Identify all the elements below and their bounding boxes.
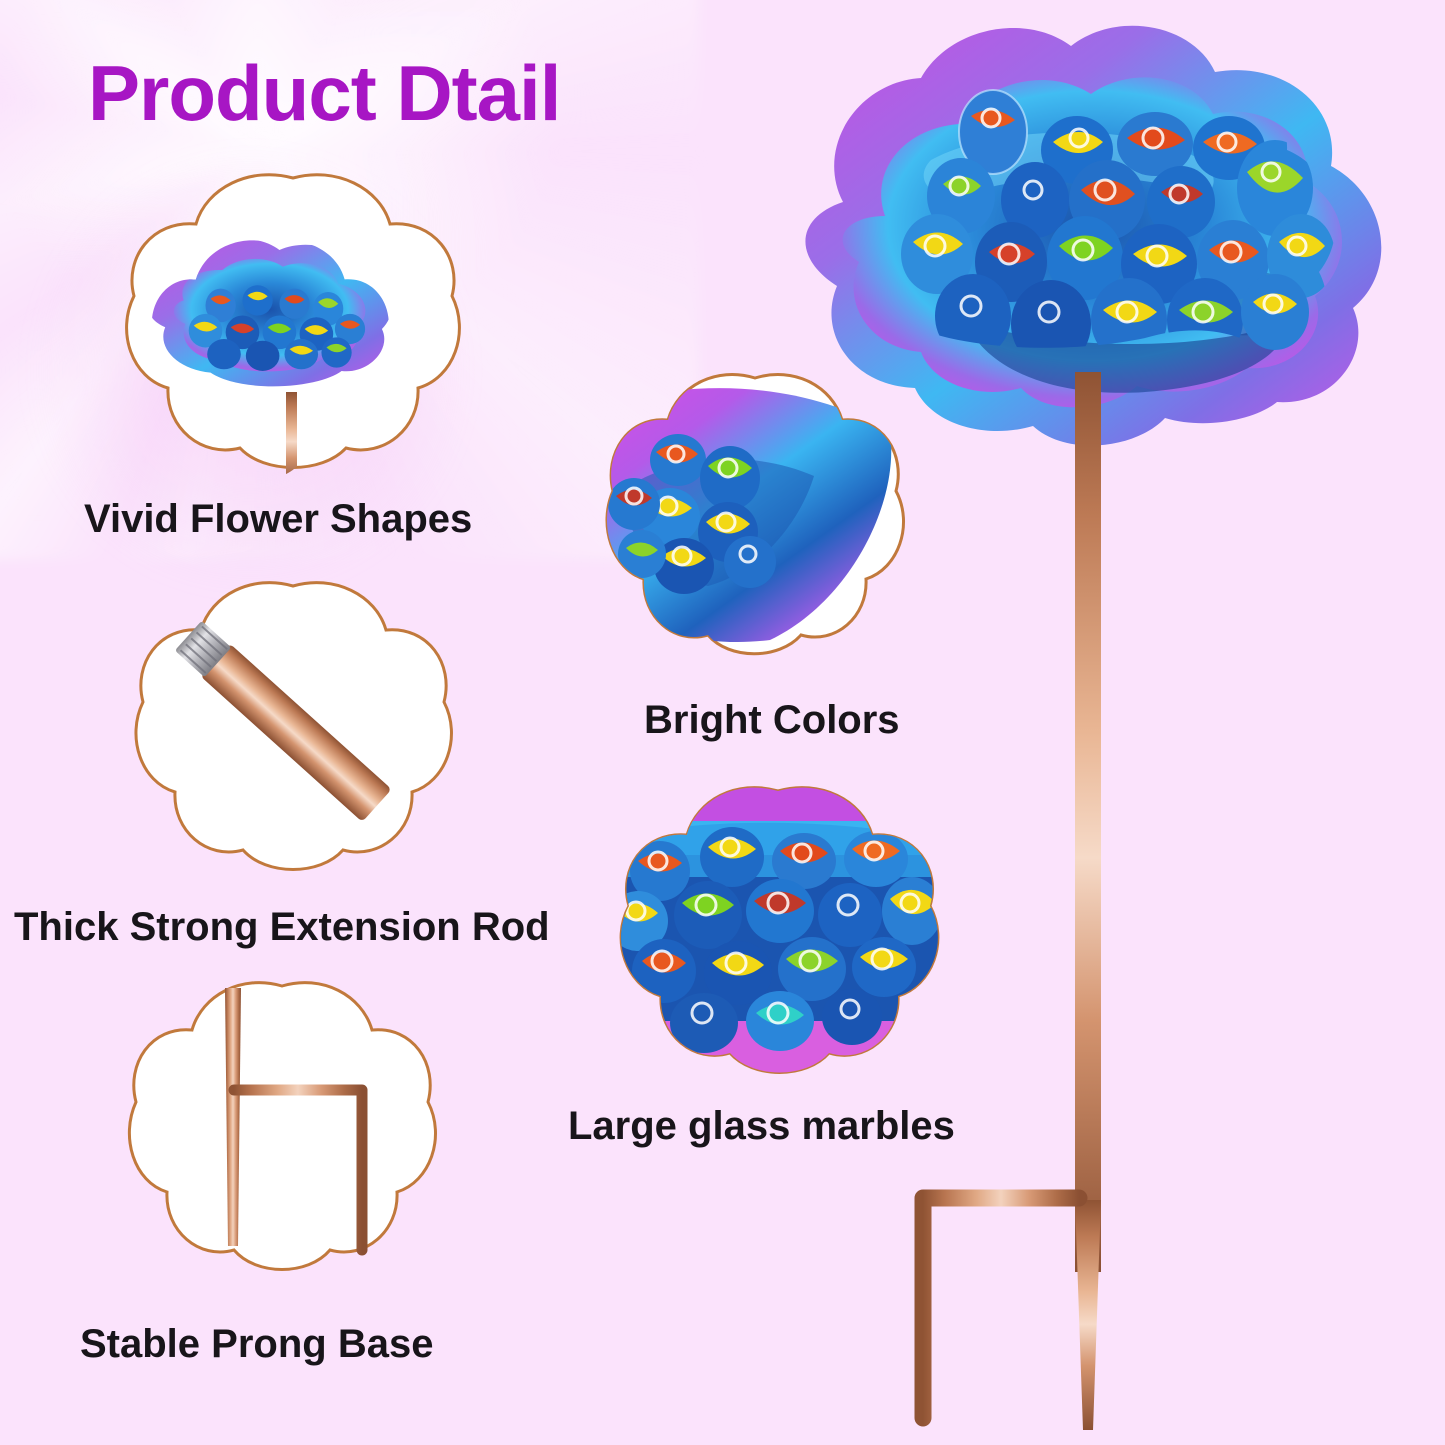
callout-bright-colors [600, 372, 910, 667]
callout-stable-prong-base [122, 980, 442, 1280]
callout-thick-strong-extension-rod [128, 580, 458, 880]
marbles-closeup [608, 785, 948, 1081]
callout-vivid-flower-shapes [118, 172, 468, 472]
product-detail-infographic: Product Dtail [0, 0, 1445, 1445]
flower-frame-shape [608, 785, 948, 1080]
caption-large-glass-marbles: Large glass marbles [568, 1104, 955, 1149]
callout-large-glass-marbles [608, 785, 948, 1080]
flower-frame-shape [118, 172, 468, 472]
caption-stable-prong-base: Stable Prong Base [80, 1322, 433, 1367]
caption-bright-colors: Bright Colors [644, 698, 900, 743]
caption-vivid-flower-shapes: Vivid Flower Shapes [84, 497, 472, 542]
stake-point [1075, 1200, 1101, 1430]
page-title: Product Dtail [88, 48, 560, 139]
caption-thick-strong-extension-rod: Thick Strong Extension Rod [14, 905, 550, 950]
flower-frame-shape [128, 580, 458, 880]
flower-frame-shape [122, 980, 442, 1280]
ground-prong [923, 1198, 1079, 1418]
copper-stake-pole [1075, 372, 1101, 1272]
flower-frame-shape [600, 372, 910, 667]
